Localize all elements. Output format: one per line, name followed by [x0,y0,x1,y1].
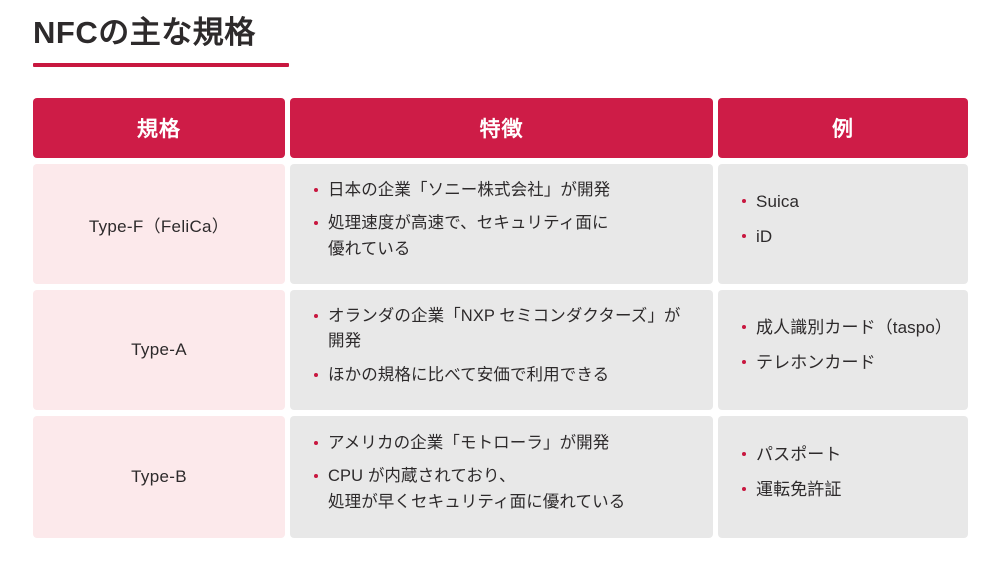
list-item: CPU が内蔵されており、 処理が早くセキュリティ面に優れている [312,464,693,514]
slide-canvas: NFCの主な規格 規格 特徴 例 Type-F（FeliCa） 日本の企業「ソニ… [0,0,1000,566]
bullet-line-1: テレホンカード [756,350,948,376]
cell-features: 日本の企業「ソニー株式会社」が開発 処理速度が高速で、セキュリティ面に 優れてい… [290,164,713,284]
list-item: オランダの企業「NXP セミコンダクターズ」が 開発 [312,304,693,354]
feature-bullet-list: アメリカの企業「モトローラ」が開発 CPU が内蔵されており、 処理が早くセキュ… [312,431,693,522]
column-header-example: 例 [718,98,968,158]
example-bullet-list: Suica iD [740,189,948,259]
cell-spec-name: Type-F（FeliCa） [33,164,285,284]
list-item: 処理速度が高速で、セキュリティ面に 優れている [312,211,693,261]
list-item: Suica [740,189,948,215]
feature-bullet-list: 日本の企業「ソニー株式会社」が開発 処理速度が高速で、セキュリティ面に 優れてい… [312,178,693,269]
bullet-line-1: アメリカの企業「モトローラ」が開発 [328,431,693,456]
page-title: NFCの主な規格 [33,12,633,54]
list-item: iD [740,224,948,250]
bullet-line-1: 日本の企業「ソニー株式会社」が開発 [328,178,693,203]
table-row: Type-A オランダの企業「NXP セミコンダクターズ」が 開発 ほかの規格に… [33,290,968,410]
list-item: ほかの規格に比べて安価で利用できる [312,363,693,388]
bullet-line-2: 優れている [328,237,693,262]
cell-examples: パスポート 運転免許証 [718,416,968,538]
bullet-line-1: 運転免許証 [756,477,948,503]
bullet-line-2: 処理が早くセキュリティ面に優れている [328,490,693,515]
column-header-feature: 特徴 [290,98,713,158]
feature-bullet-list: オランダの企業「NXP セミコンダクターズ」が 開発 ほかの規格に比べて安価で利… [312,304,693,395]
bullet-line-1: 処理速度が高速で、セキュリティ面に [328,211,693,236]
title-block: NFCの主な規格 [33,12,633,67]
cell-spec-name: Type-B [33,416,285,538]
cell-spec-name: Type-A [33,290,285,410]
list-item: テレホンカード [740,350,948,376]
cell-examples: 成人識別カード（taspo） テレホンカード [718,290,968,410]
bullet-line-1: ほかの規格に比べて安価で利用できる [328,363,693,388]
bullet-line-1: Suica [756,189,948,215]
bullet-line-1: 成人識別カード（taspo） [756,315,948,341]
example-bullet-list: 成人識別カード（taspo） テレホンカード [740,315,948,385]
example-bullet-list: パスポート 運転免許証 [740,442,948,512]
list-item: 成人識別カード（taspo） [740,315,948,341]
bullet-line-1: CPU が内蔵されており、 [328,464,693,489]
table-row: Type-F（FeliCa） 日本の企業「ソニー株式会社」が開発 処理速度が高速… [33,164,968,284]
table-header-row: 規格 特徴 例 [33,98,968,158]
title-underline-rule [33,63,289,67]
cell-features: オランダの企業「NXP セミコンダクターズ」が 開発 ほかの規格に比べて安価で利… [290,290,713,410]
nfc-standards-table: 規格 特徴 例 Type-F（FeliCa） 日本の企業「ソニー株式会社」が開発… [33,98,968,538]
cell-features: アメリカの企業「モトローラ」が開発 CPU が内蔵されており、 処理が早くセキュ… [290,416,713,538]
list-item: アメリカの企業「モトローラ」が開発 [312,431,693,456]
cell-examples: Suica iD [718,164,968,284]
bullet-line-2: 開発 [328,329,693,354]
bullet-line-1: iD [756,224,948,250]
list-item: 日本の企業「ソニー株式会社」が開発 [312,178,693,203]
column-header-spec: 規格 [33,98,285,158]
table-row: Type-B アメリカの企業「モトローラ」が開発 CPU が内蔵されており、 処… [33,416,968,538]
bullet-line-1: オランダの企業「NXP セミコンダクターズ」が [328,304,693,329]
list-item: 運転免許証 [740,477,948,503]
list-item: パスポート [740,442,948,468]
bullet-line-1: パスポート [756,442,948,468]
